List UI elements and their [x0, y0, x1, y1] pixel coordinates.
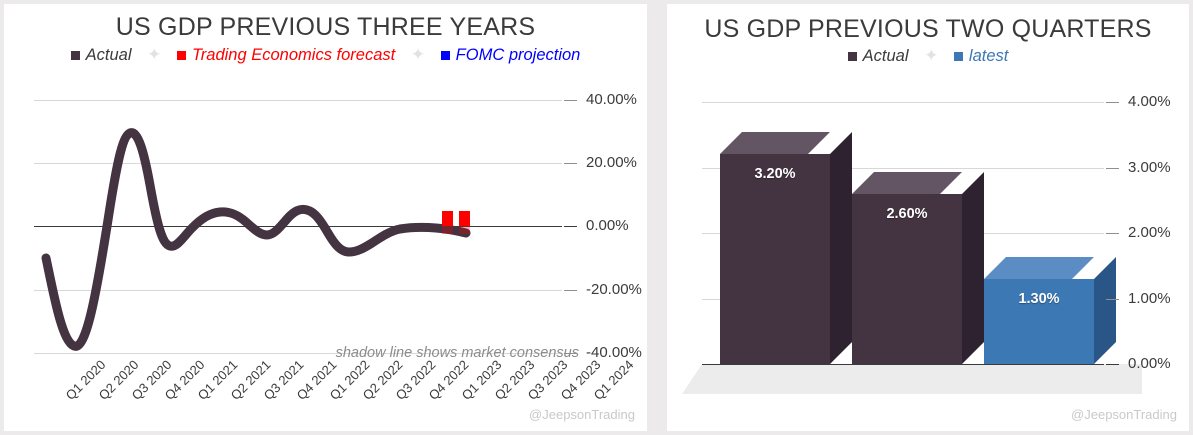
legend-separator-icon-2: ✦ — [411, 45, 425, 65]
legend-separator-icon-right: ✦ — [924, 46, 938, 66]
ytick-dash-0 — [564, 226, 577, 227]
ytick-dash-4pct — [1106, 102, 1119, 103]
forecast-marker-q1-2023 — [442, 211, 453, 226]
ytick-label-20: 20.00% — [586, 154, 637, 171]
ytick-dash-3pct — [1106, 168, 1119, 169]
bar-side-face-q3-2022 — [830, 132, 852, 364]
left-chart-title: US GDP PREVIOUS THREE YEARS — [4, 13, 647, 42]
bar-front-face-q3-2022 — [720, 154, 830, 364]
dual-chart-figure: US GDP PREVIOUS THREE YEARS Actual ✦ Tra… — [0, 0, 1193, 435]
ytick-label-n20: -20.00% — [586, 281, 642, 298]
gridline-4pct — [702, 102, 1104, 103]
chart-floor — [702, 364, 1142, 394]
legend-swatch-te-forecast — [177, 51, 186, 60]
ytick-label-40: 40.00% — [586, 91, 637, 108]
bar-top-face-q4-2022 — [852, 172, 962, 194]
legend-item-te-forecast: Trading Economics forecast — [177, 46, 395, 65]
forecast-marker-halo — [442, 222, 453, 234]
ytick-label-1pct: 1.00% — [1128, 290, 1171, 307]
ytick-label-0: 0.00% — [586, 217, 629, 234]
bar-value-label-q3-2022: 3.20% — [720, 166, 830, 182]
legend-swatch-fomc — [441, 51, 450, 60]
chart-floor-bevel — [682, 364, 702, 394]
ytick-dash-1pct — [1106, 299, 1119, 300]
legend-label-fomc: FOMC projection — [456, 47, 581, 65]
bar-side-face-q4-2022 — [962, 172, 984, 364]
legend-swatch-actual — [71, 51, 80, 60]
forecast-marker-halo-2 — [459, 222, 470, 234]
bar-top-face-q1-2023 — [984, 257, 1094, 279]
legend-label-actual-right: Actual — [863, 48, 909, 66]
left-chart-legend: Actual ✦ Trading Economics forecast ✦ FO… — [4, 46, 647, 66]
legend-item-actual: Actual — [71, 46, 132, 65]
bar-top-face-q3-2022 — [720, 132, 830, 154]
right-chart-legend: Actual ✦ latest — [667, 47, 1189, 67]
gridline-0pct — [702, 364, 1104, 365]
legend-swatch-latest — [954, 52, 963, 61]
bar-q4-2022[interactable]: 2.60% — [852, 194, 962, 364]
ytick-label-0pct: 0.00% — [1128, 355, 1171, 372]
forecast-marker-q2-2023 — [459, 211, 470, 226]
bar-side-face-q1-2023 — [1094, 257, 1116, 364]
legend-separator-icon: ✦ — [147, 45, 161, 65]
right-chart-title: US GDP PREVIOUS TWO QUARTERS — [667, 15, 1189, 44]
ytick-label-3pct: 3.00% — [1128, 159, 1171, 176]
gdp-actual-line — [34, 100, 562, 353]
watermark-left: @JeepsonTrading — [529, 407, 635, 422]
legend-label-te-forecast: Trading Economics forecast — [192, 47, 395, 65]
left-chart-panel: US GDP PREVIOUS THREE YEARS Actual ✦ Tra… — [4, 4, 647, 431]
left-plot-area: 40.00% 20.00% 0.00% -20.00% -40.00% — [34, 100, 559, 353]
ytick-label-4pct: 4.00% — [1128, 93, 1171, 110]
legend-label-actual: Actual — [86, 47, 132, 65]
bar-q1-2023[interactable]: 1.30% — [984, 279, 1094, 364]
bar-q3-2022[interactable]: 3.20% — [720, 154, 830, 364]
legend-item-fomc: FOMC projection — [441, 46, 581, 65]
bar-value-label-q4-2022: 2.60% — [852, 206, 962, 222]
legend-item-actual-right: Actual — [848, 47, 909, 66]
left-x-axis: Q1 2020 Q2 2020 Q3 2020 Q4 2020 Q1 2021 … — [4, 357, 647, 435]
bar-value-label-q1-2023: 1.30% — [984, 291, 1094, 307]
legend-item-latest: latest — [954, 47, 1008, 66]
legend-swatch-actual-right — [848, 52, 857, 61]
ytick-dash-0pct — [1106, 364, 1119, 365]
right-plot-area: 3.20% 2.60% — [702, 102, 1102, 364]
ytick-dash-20 — [564, 163, 577, 164]
ytick-dash-2pct — [1106, 233, 1119, 234]
right-chart-panel: US GDP PREVIOUS TWO QUARTERS Actual ✦ la… — [667, 4, 1189, 431]
ytick-label-2pct: 2.00% — [1128, 224, 1171, 241]
ytick-dash-n20 — [564, 290, 577, 291]
ytick-dash-40 — [564, 100, 577, 101]
legend-label-latest: latest — [969, 48, 1008, 66]
watermark-right: @JeepsonTrading — [1071, 407, 1177, 422]
